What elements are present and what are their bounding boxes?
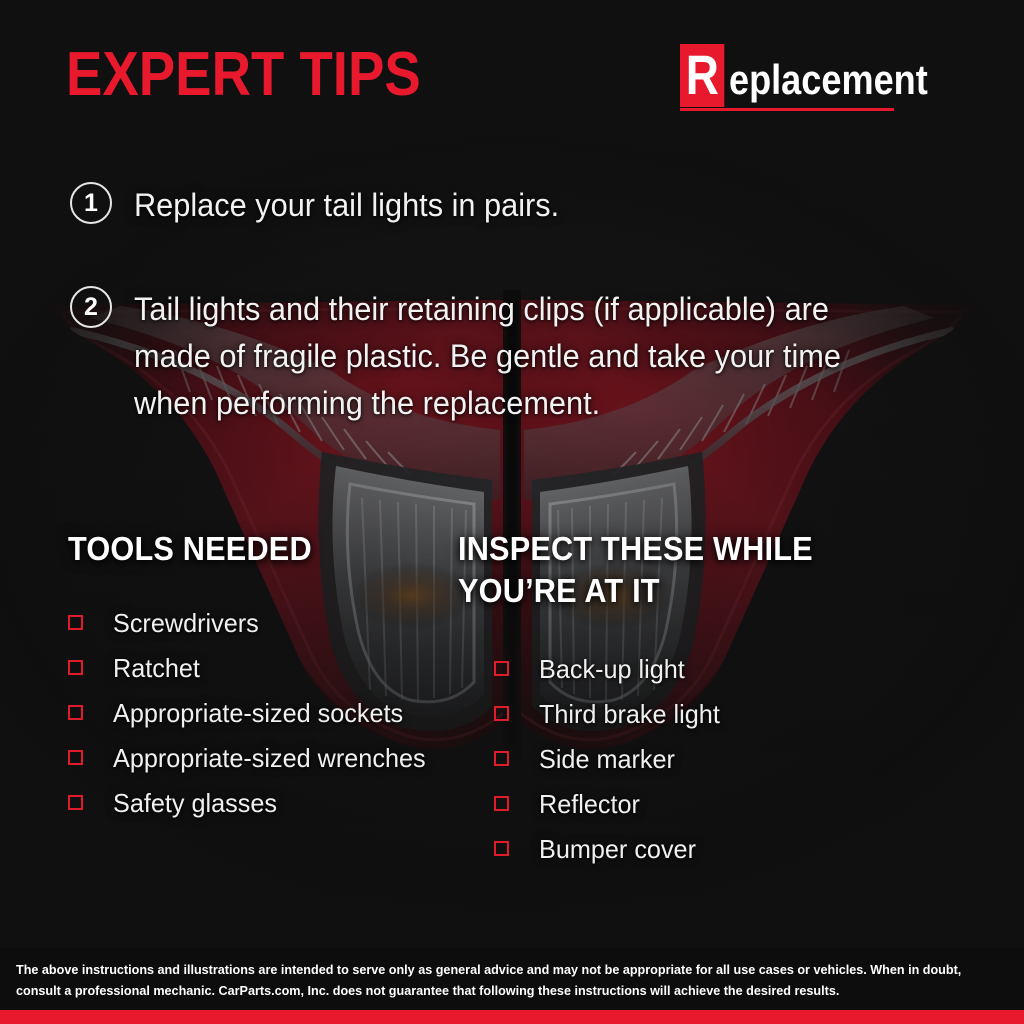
- expert-tips-infographic: EXPERT TIPS R eplacement 1 Replace your …: [0, 0, 1024, 1024]
- logo-initial: R: [680, 44, 725, 107]
- tools-needed-heading: TOOLS NEEDED: [68, 528, 312, 570]
- inspect-these-heading: INSPECT THESE WHILE YOU’RE AT IT: [458, 528, 849, 612]
- list-item-label: Reflector: [539, 790, 640, 818]
- inspect-these-list: Back-up light Third brake light Side mar…: [494, 646, 725, 871]
- tools-needed-list: Screwdrivers Ratchet Appropriate-sized s…: [68, 600, 435, 825]
- list-item[interactable]: Third brake light: [494, 691, 725, 736]
- list-item-label: Screwdrivers: [113, 609, 259, 637]
- list-item[interactable]: Safety glasses: [68, 780, 435, 825]
- checkbox-icon[interactable]: [68, 750, 83, 765]
- list-item[interactable]: Back-up light: [494, 646, 725, 691]
- list-item[interactable]: Bumper cover: [494, 826, 725, 871]
- tip-number-badge-1: 1: [70, 182, 112, 224]
- tip-text-1: Replace your tail lights in pairs.: [134, 182, 559, 229]
- list-item-label: Safety glasses: [113, 789, 277, 817]
- list-item[interactable]: Screwdrivers: [68, 600, 435, 645]
- list-item-label: Third brake light: [539, 700, 720, 728]
- checkbox-icon[interactable]: [494, 841, 509, 856]
- list-item[interactable]: Side marker: [494, 736, 725, 781]
- tip-item-2: 2 Tail lights and their retaining clips …: [70, 286, 894, 427]
- list-item-label: Back-up light: [539, 655, 685, 683]
- disclaimer-text: The above instructions and illustrations…: [16, 959, 978, 1001]
- list-item-label: Appropriate-sized sockets: [113, 699, 403, 727]
- checkbox-icon[interactable]: [494, 796, 509, 811]
- checkbox-icon[interactable]: [494, 661, 509, 676]
- checkbox-icon[interactable]: [494, 706, 509, 721]
- list-item-label: Side marker: [539, 745, 675, 773]
- checkbox-icon[interactable]: [68, 615, 83, 630]
- checkbox-icon[interactable]: [494, 751, 509, 766]
- list-item-label: Ratchet: [113, 654, 200, 682]
- checkbox-icon[interactable]: [68, 660, 83, 675]
- list-item-label: Appropriate-sized wrenches: [113, 744, 426, 772]
- bottom-accent-bar: [0, 1010, 1024, 1024]
- list-item[interactable]: Appropriate-sized wrenches: [68, 735, 435, 780]
- checkbox-icon[interactable]: [68, 705, 83, 720]
- logo-underline: [680, 108, 894, 111]
- logo-row: R eplacement: [680, 44, 960, 107]
- checkbox-icon[interactable]: [68, 795, 83, 810]
- tip-item-1: 1 Replace your tail lights in pairs.: [70, 182, 577, 229]
- list-item-label: Bumper cover: [539, 835, 696, 863]
- footer-disclaimer-bar: The above instructions and illustrations…: [0, 948, 1024, 1010]
- list-item[interactable]: Reflector: [494, 781, 725, 826]
- tip-number-badge-2: 2: [70, 286, 112, 328]
- list-item[interactable]: Appropriate-sized sockets: [68, 690, 435, 735]
- tip-text-2: Tail lights and their retaining clips (i…: [134, 286, 864, 427]
- page-title: EXPERT TIPS: [66, 44, 421, 106]
- replacement-logo: R eplacement: [680, 44, 960, 111]
- logo-wordmark: eplacement: [729, 58, 928, 102]
- list-item[interactable]: Ratchet: [68, 645, 435, 690]
